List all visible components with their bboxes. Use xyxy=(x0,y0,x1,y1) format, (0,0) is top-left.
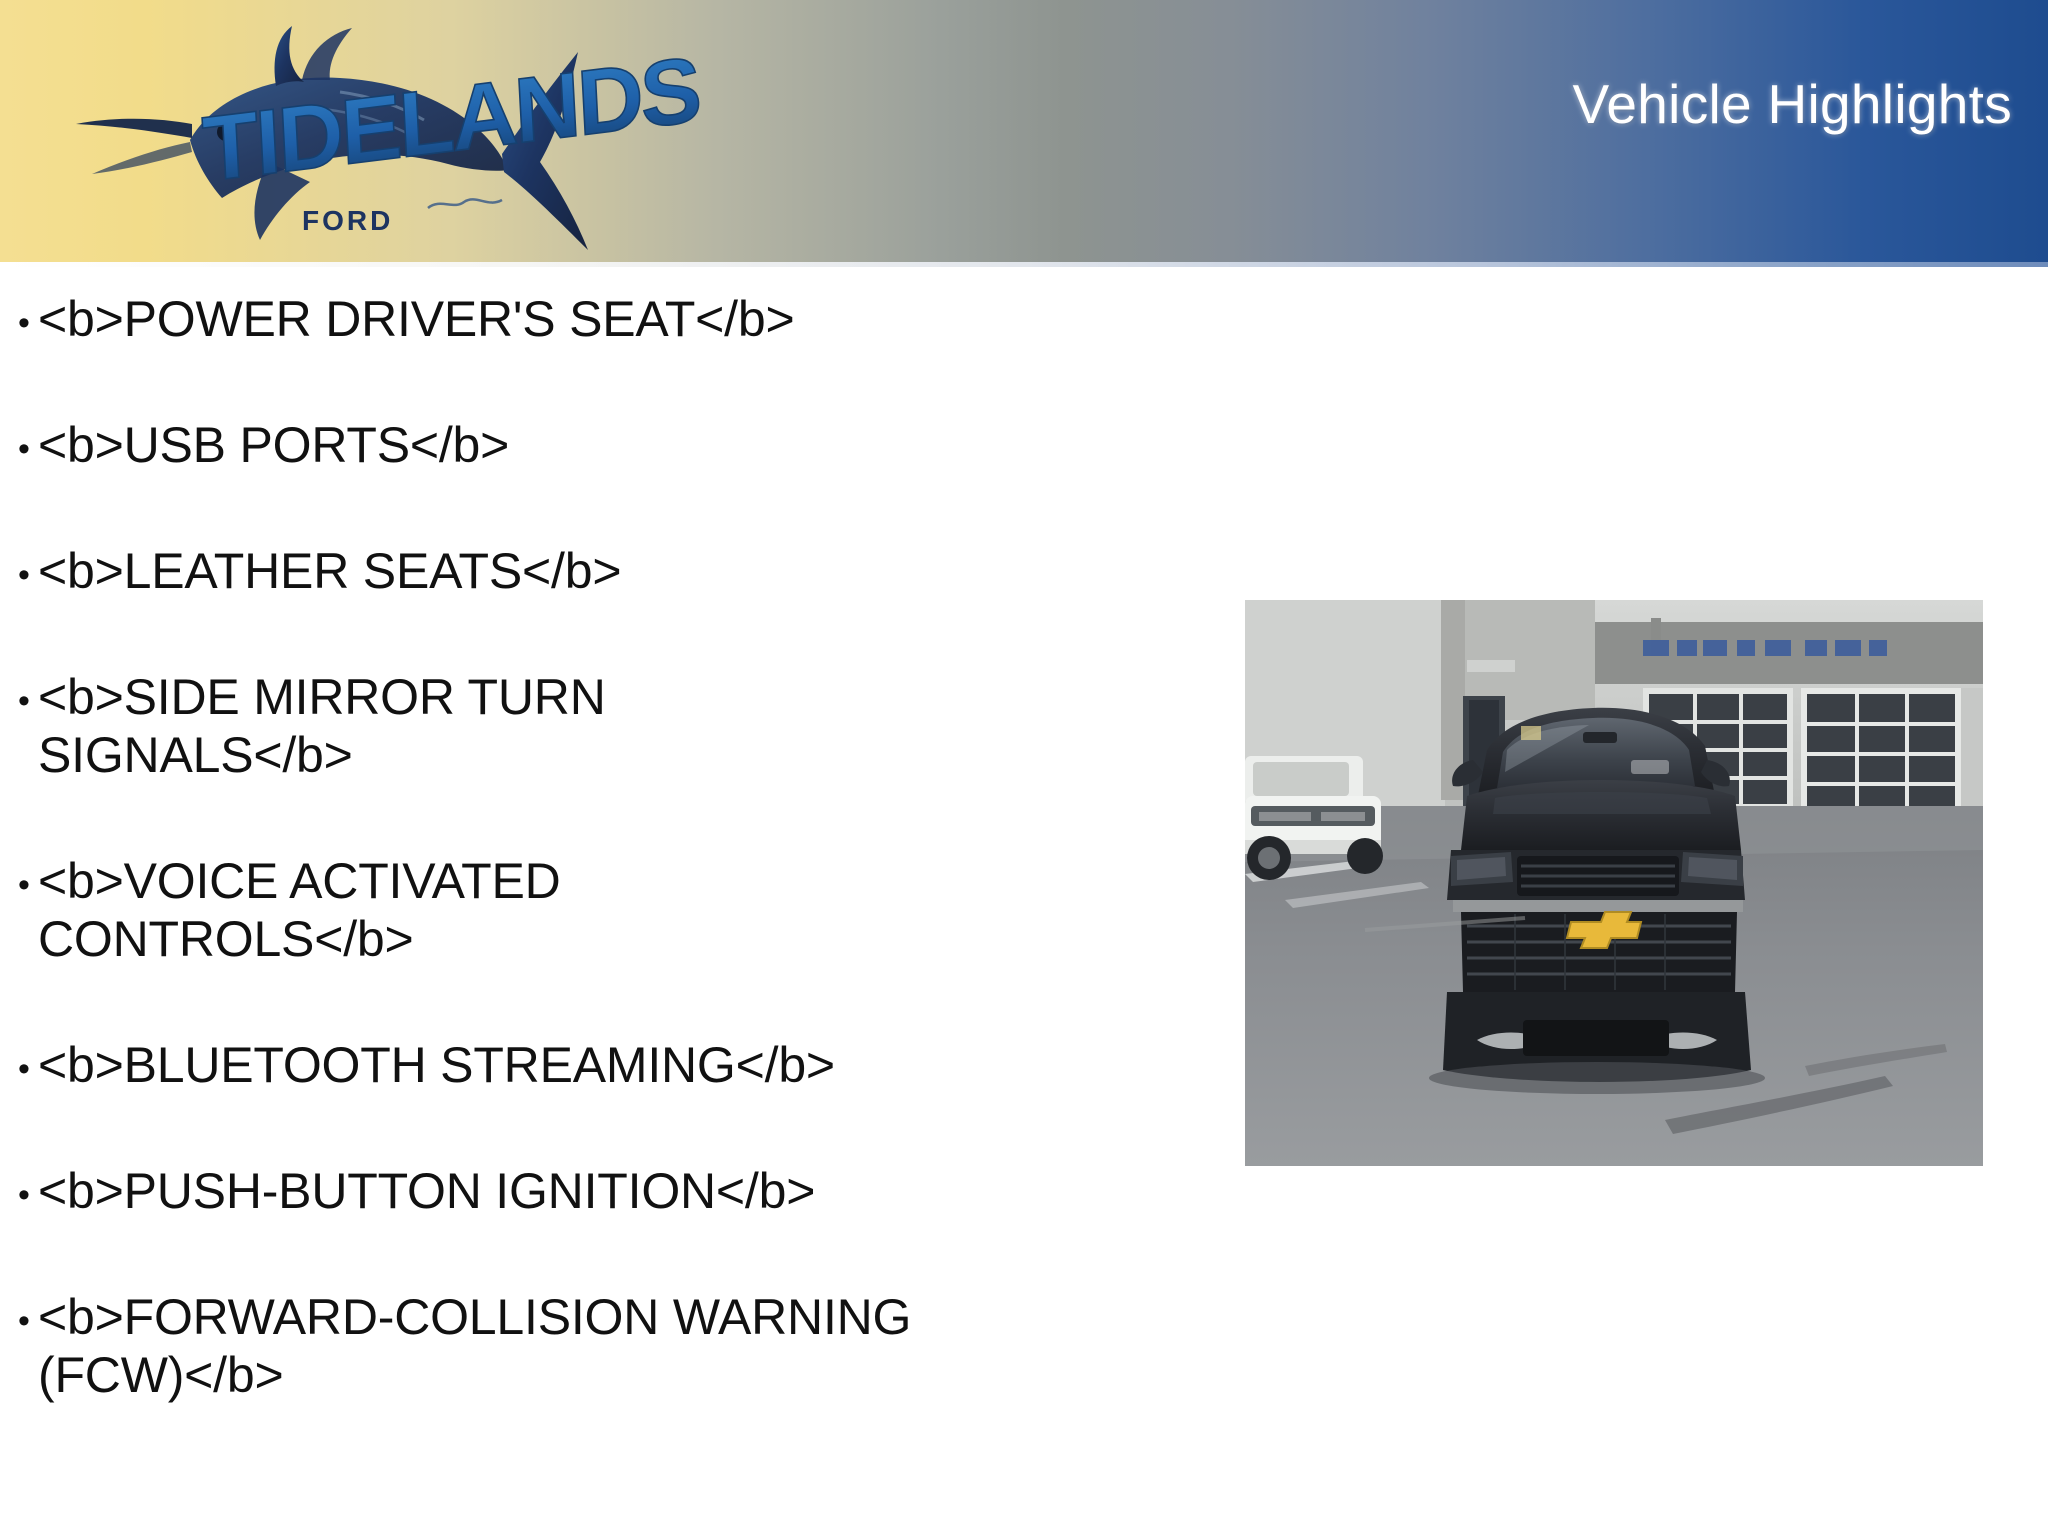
tidelands-ford-logo: TIDELANDS FORD xyxy=(40,12,700,257)
bullet-icon: • xyxy=(0,542,38,592)
list-item-label: <b>POWER DRIVER'S SEAT</b> xyxy=(38,290,1190,348)
page-title: Vehicle Highlights xyxy=(1572,72,2012,136)
list-item-label: <b>LEATHER SEATS</b> xyxy=(38,542,1190,600)
list-item: • <b>VOICE ACTIVATED CONTROLS</b> xyxy=(0,852,1190,968)
list-item: • <b>LEATHER SEATS</b> xyxy=(0,542,1190,600)
garage-door-icon xyxy=(1801,688,1961,818)
vehicle-highlights-list: • <b>POWER DRIVER'S SEAT</b> • <b>USB PO… xyxy=(0,290,1190,1472)
list-item-label: <b>VOICE ACTIVATED CONTROLS</b> xyxy=(38,852,1190,968)
list-item: • <b>SIDE MIRROR TURN SIGNALS</b> xyxy=(0,668,1190,784)
list-item-label: <b>SIDE MIRROR TURN SIGNALS</b> xyxy=(38,668,1190,784)
bullet-icon: • xyxy=(0,852,38,902)
list-item-label: <b>BLUETOOTH STREAMING</b> xyxy=(38,1036,1190,1094)
list-item: • <b>PUSH-BUTTON IGNITION</b> xyxy=(0,1162,1190,1220)
bullet-icon: • xyxy=(0,668,38,718)
list-item: • <b>POWER DRIVER'S SEAT</b> xyxy=(0,290,1190,348)
bullet-icon: • xyxy=(0,416,38,466)
list-item: • <b>USB PORTS</b> xyxy=(0,416,1190,474)
building-sign-icon xyxy=(1643,640,1887,656)
logo-sub-brand-text: FORD xyxy=(302,205,393,236)
logo-script-tagline-icon xyxy=(428,199,502,208)
list-item-label: <b>PUSH-BUTTON IGNITION</b> xyxy=(38,1162,1190,1220)
slide: TIDELANDS FORD Vehicle Highlights • <b>P… xyxy=(0,0,2048,1536)
header-divider xyxy=(0,262,2048,267)
bullet-icon: • xyxy=(0,1162,38,1212)
bullet-icon: • xyxy=(0,290,38,340)
list-item-label: <b>FORWARD-COLLISION WARNING (FCW)</b> xyxy=(38,1288,1190,1404)
list-item-label: <b>USB PORTS</b> xyxy=(38,416,1190,474)
list-item: • <b>FORWARD-COLLISION WARNING (FCW)</b> xyxy=(0,1288,1190,1404)
list-item: • <b>BLUETOOTH STREAMING</b> xyxy=(0,1036,1190,1094)
slide-header: TIDELANDS FORD Vehicle Highlights xyxy=(0,0,2048,262)
vehicle-photo xyxy=(1245,600,1983,1166)
bullet-icon: • xyxy=(0,1036,38,1086)
bullet-icon: • xyxy=(0,1288,38,1338)
